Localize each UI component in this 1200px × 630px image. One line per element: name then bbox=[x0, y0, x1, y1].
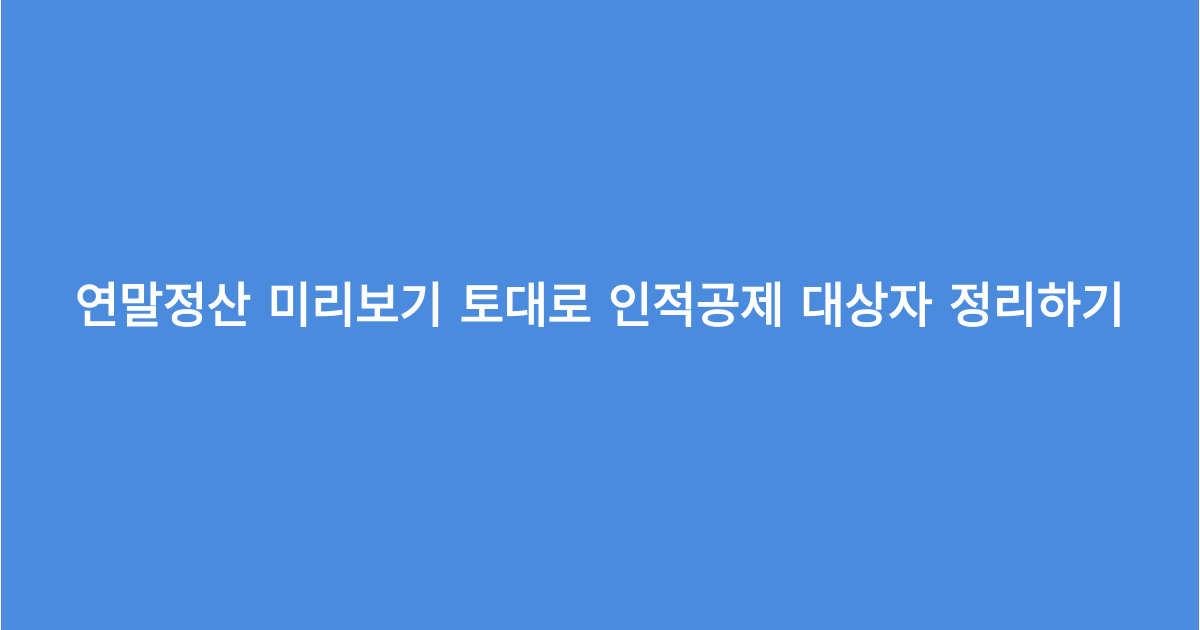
og-card: 연말정산 미리보기 토대로 인적공제 대상자 정리하기 bbox=[0, 0, 1200, 630]
page-title: 연말정산 미리보기 토대로 인적공제 대상자 정리하기 bbox=[75, 275, 1125, 338]
headline-block: 연말정산 미리보기 토대로 인적공제 대상자 정리하기 bbox=[50, 275, 1150, 338]
